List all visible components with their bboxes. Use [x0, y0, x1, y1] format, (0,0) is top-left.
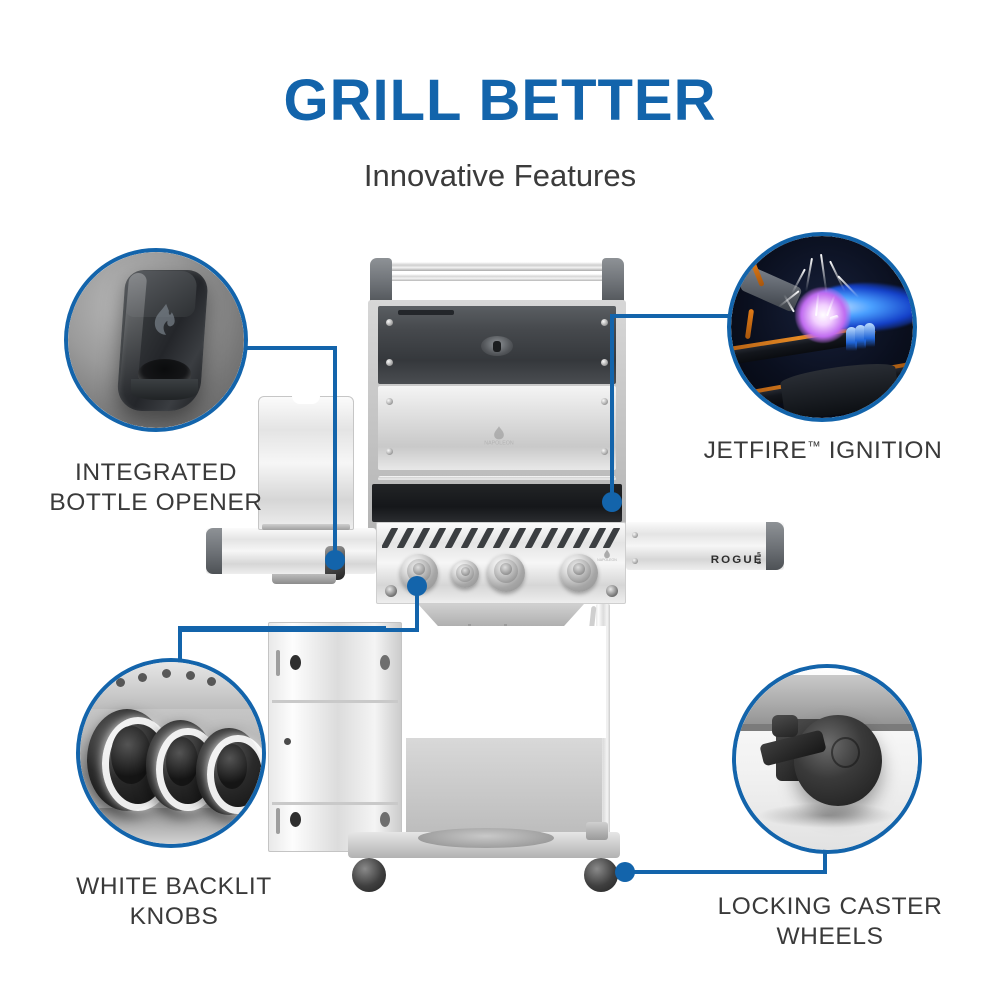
- burner-knob-4-center: [573, 563, 585, 575]
- lid-screw: [601, 448, 608, 455]
- handle-cap-right: [602, 258, 624, 306]
- lid-screw: [601, 359, 608, 366]
- lid-screw: [601, 398, 608, 405]
- rogue-badge-model: 52: [757, 552, 761, 566]
- firebox-underside: [418, 604, 584, 626]
- leader-line-caster-h: [627, 870, 827, 874]
- lid-screw: [601, 319, 608, 326]
- leader-line-jetfire-v: [610, 316, 614, 502]
- control-panel-vent: [382, 526, 620, 550]
- callout-label-locking-caster-wheels: LOCKING CASTER WHEELS: [690, 892, 970, 952]
- svg-text:NAPOLEON: NAPOLEON: [484, 441, 514, 446]
- callout-label-white-backlit-knobs: WHITE BACKLIT KNOBS: [34, 872, 314, 932]
- right-shelf-end-cap: [766, 522, 784, 570]
- lid-handle-bar: [388, 262, 606, 271]
- svg-text:NAPOLEON: NAPOLEON: [597, 558, 617, 562]
- burner-knob-1-center: [413, 563, 425, 575]
- burner-knob-3-center: [500, 563, 512, 575]
- door-pin-right-upper: [380, 655, 390, 670]
- spark-ignition-icon: [731, 236, 913, 418]
- leader-dot-knobs: [407, 576, 427, 596]
- firebox-upper-band: [372, 484, 622, 522]
- rogue-badge: ROGUE: [711, 554, 764, 566]
- callout-locking-caster-wheels[interactable]: [732, 664, 922, 854]
- callout-label-bottle-opener-line2: BOTTLE OPENER: [16, 488, 296, 518]
- cart-back-panel: [406, 736, 602, 832]
- callout-white-backlit-knobs[interactable]: [76, 658, 266, 848]
- lid-screw: [386, 359, 393, 366]
- page-title: GRILL BETTER: [0, 72, 1000, 130]
- lid-screw: [386, 448, 393, 455]
- control-knobs-icon: [80, 662, 262, 844]
- callout-jetfire-ignition[interactable]: [727, 232, 917, 422]
- lid-screw: [386, 319, 393, 326]
- leader-dot-bottle-opener: [325, 550, 345, 570]
- napoleon-logo-lid: NAPOLEON: [470, 424, 528, 446]
- door-latch-upper: [290, 655, 301, 670]
- bottle-opener-icon: [68, 252, 244, 428]
- callout-label-jetfire-text: JETFIRE™ IGNITION: [704, 437, 943, 464]
- door-latch-lower: [290, 812, 301, 827]
- callout-label-knobs-line1: WHITE BACKLIT: [34, 872, 314, 902]
- door-handle-upper[interactable]: [276, 650, 280, 676]
- napoleon-logo-panel: NAPOLEON: [591, 548, 623, 562]
- shelf-screw: [632, 558, 638, 564]
- lid-screw: [386, 398, 393, 405]
- thermometer-port-center: [493, 341, 501, 352]
- callout-label-jetfire-ignition: JETFIRE™ IGNITION: [692, 432, 954, 466]
- door-pin-center: [284, 738, 291, 745]
- lid-trim-bar: [378, 476, 616, 481]
- shelf-screw: [632, 532, 638, 538]
- callout-bottle-opener[interactable]: [64, 248, 248, 432]
- lid-handle-bar-lower: [388, 274, 606, 281]
- callout-label-caster-line1: LOCKING CASTER: [690, 892, 970, 922]
- caster-mount-right: [586, 822, 608, 840]
- cart-door-seam: [272, 700, 398, 703]
- cart-door-seam-lower: [272, 802, 398, 805]
- handle-cap-left: [370, 258, 392, 306]
- callout-label-bottle-opener-line1: INTEGRATED: [16, 458, 296, 488]
- infographic-canvas: GRILL BETTER Innovative Features NAPOLEO…: [0, 0, 1000, 1000]
- lid-vent-slot: [398, 310, 454, 315]
- callout-label-jetfire-line1: JETFIRE™ IGNITION: [692, 432, 954, 466]
- leader-line-bottle-opener-h: [244, 346, 337, 350]
- leader-line-bottle-opener-v: [333, 346, 337, 558]
- burner-knob-2-center: [461, 567, 470, 576]
- left-side-shelf: [206, 528, 376, 574]
- ignition-button[interactable]: [385, 585, 397, 597]
- leader-dot-caster: [615, 862, 635, 882]
- side-burner-lid-notch: [292, 396, 320, 404]
- callout-label-bottle-opener: INTEGRATED BOTTLE OPENER: [16, 458, 296, 518]
- left-shelf-end-cap: [206, 528, 222, 574]
- leader-line-jetfire-h: [610, 314, 728, 318]
- side-ignition-button[interactable]: [606, 585, 618, 597]
- left-shelf-bracket: [272, 574, 336, 584]
- door-handle-lower[interactable]: [276, 808, 280, 834]
- leader-line-knobs-h2: [178, 628, 419, 632]
- callout-label-knobs-line2: KNOBS: [34, 902, 314, 932]
- callout-label-caster-line2: WHEELS: [690, 922, 970, 952]
- caster-wheel-left: [352, 858, 386, 892]
- caster-wheel-icon: [736, 668, 918, 850]
- caster-wheel-right: [584, 858, 618, 892]
- leader-dot-jetfire: [602, 492, 622, 512]
- page-subtitle: Innovative Features: [0, 160, 1000, 191]
- tank-plate: [418, 828, 554, 848]
- door-pin-right-lower: [380, 812, 390, 827]
